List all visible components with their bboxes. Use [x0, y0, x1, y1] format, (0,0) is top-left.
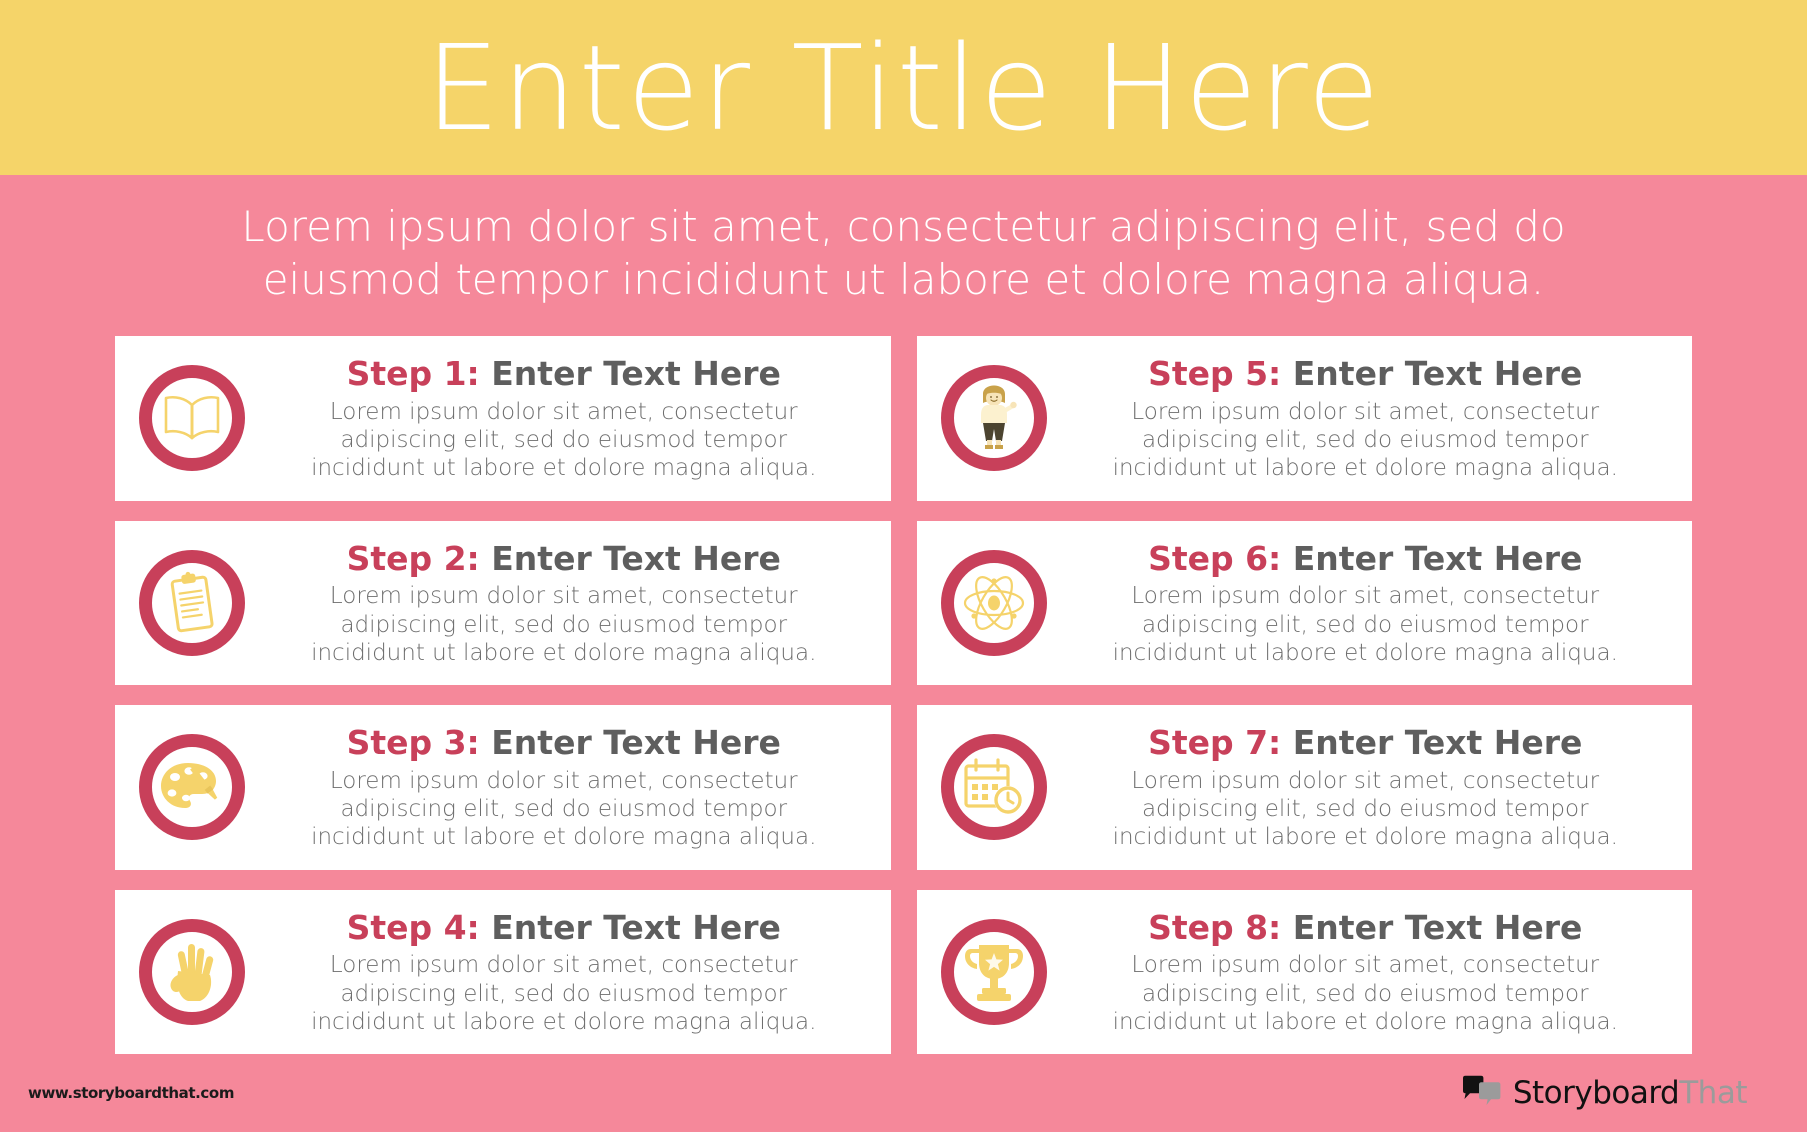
step-body-line-3: incididunt ut labore et dolore magna ali… — [259, 454, 869, 482]
step-label-2[interactable]: Step 2: — [347, 539, 480, 578]
step-body-line-3: incididunt ut labore et dolore magna ali… — [259, 639, 869, 667]
step-body-line-2: adipiscing elit, sed do eiusmod tempor — [259, 611, 869, 639]
step-body-line-3: incididunt ut labore et dolore magna ali… — [1061, 639, 1671, 667]
step-body-line-3: incididunt ut labore et dolore magna ali… — [1061, 454, 1671, 482]
step-body-4[interactable]: Lorem ipsum dolor sit amet, consectetur … — [259, 951, 869, 1035]
step-body-line-1: Lorem ipsum dolor sit amet, consectetur — [1061, 951, 1671, 979]
step-body-2[interactable]: Lorem ipsum dolor sit amet, consectetur … — [259, 582, 869, 666]
step-heading-5: Step 5: Enter Text Here — [1061, 354, 1671, 394]
step-body-line-3: incididunt ut labore et dolore magna ali… — [1061, 823, 1671, 851]
step-body-line-1: Lorem ipsum dolor sit amet, consectetur — [1061, 582, 1671, 610]
step-heading-3: Step 3: Enter Text Here — [259, 723, 869, 763]
step-label-5[interactable]: Step 5: — [1148, 354, 1281, 393]
step-body-line-1: Lorem ipsum dolor sit amet, consectetur — [259, 951, 869, 979]
step-title-1[interactable]: Enter Text Here — [491, 354, 781, 393]
page-title[interactable]: Enter Title Here — [425, 29, 1381, 147]
subtitle-line-1[interactable]: Lorem ipsum dolor sit amet, consectetur … — [150, 201, 1657, 254]
calendar-clock-icon — [962, 756, 1026, 818]
step-card-5[interactable]: Step 5: Enter Text Here Lorem ipsum dolo… — [917, 336, 1693, 501]
step-label-8[interactable]: Step 8: — [1148, 908, 1281, 947]
step-body-line-2: adipiscing elit, sed do eiusmod tempor — [259, 795, 869, 823]
step-card-3[interactable]: Step 3: Enter Text Here Lorem ipsum dolo… — [115, 705, 891, 870]
step-card-4[interactable]: Step 4: Enter Text Here Lorem ipsum dolo… — [115, 890, 891, 1055]
subtitle-line-2[interactable]: eiusmod tempor incididunt ut labore et d… — [150, 254, 1657, 307]
step-heading-8: Step 8: Enter Text Here — [1061, 908, 1671, 948]
atom-icon — [962, 571, 1026, 635]
step-icon-circle-5 — [941, 365, 1047, 471]
logo-text-storyboard: Storyboard — [1513, 1075, 1679, 1111]
step-body-3[interactable]: Lorem ipsum dolor sit amet, consectetur … — [259, 767, 869, 851]
footer-website-url[interactable]: www.storyboardthat.com — [28, 1084, 234, 1102]
subtitle-block: Lorem ipsum dolor sit amet, consectetur … — [0, 175, 1807, 316]
step-text-3: Step 3: Enter Text Here Lorem ipsum dolo… — [259, 723, 875, 851]
step-heading-7: Step 7: Enter Text Here — [1061, 723, 1671, 763]
step-text-2: Step 2: Enter Text Here Lorem ipsum dolo… — [259, 539, 875, 667]
paint-palette-icon — [158, 757, 226, 817]
step-title-6[interactable]: Enter Text Here — [1293, 539, 1583, 578]
step-body-line-1: Lorem ipsum dolor sit amet, consectetur — [259, 582, 869, 610]
trophy-icon — [963, 941, 1025, 1003]
step-icon-circle-2 — [139, 550, 245, 656]
step-body-5[interactable]: Lorem ipsum dolor sit amet, consectetur … — [1061, 398, 1671, 482]
open-book-icon — [161, 392, 223, 444]
step-icon-circle-7 — [941, 734, 1047, 840]
step-body-line-2: adipiscing elit, sed do eiusmod tempor — [1061, 426, 1671, 454]
step-icon-circle-6 — [941, 550, 1047, 656]
step-text-7: Step 7: Enter Text Here Lorem ipsum dolo… — [1061, 723, 1677, 851]
logo-text-that: That — [1679, 1075, 1747, 1111]
step-label-7[interactable]: Step 7: — [1148, 723, 1281, 762]
raised-hand-icon — [164, 939, 220, 1005]
clipboard-icon — [167, 571, 217, 635]
step-body-line-2: adipiscing elit, sed do eiusmod tempor — [259, 426, 869, 454]
step-text-1: Step 1: Enter Text Here Lorem ipsum dolo… — [259, 354, 875, 482]
step-text-6: Step 6: Enter Text Here Lorem ipsum dolo… — [1061, 539, 1677, 667]
speech-bubbles-icon — [1461, 1075, 1503, 1112]
step-text-8: Step 8: Enter Text Here Lorem ipsum dolo… — [1061, 908, 1677, 1036]
step-body-line-3: incididunt ut labore et dolore magna ali… — [1061, 1008, 1671, 1036]
step-body-1[interactable]: Lorem ipsum dolor sit amet, consectetur … — [259, 398, 869, 482]
step-title-8[interactable]: Enter Text Here — [1293, 908, 1583, 947]
logo-wordmark: StoryboardThat — [1513, 1075, 1747, 1111]
step-body-7[interactable]: Lorem ipsum dolor sit amet, consectetur … — [1061, 767, 1671, 851]
step-body-6[interactable]: Lorem ipsum dolor sit amet, consectetur … — [1061, 582, 1671, 666]
step-card-1[interactable]: Step 1: Enter Text Here Lorem ipsum dolo… — [115, 336, 891, 501]
storyboardthat-logo[interactable]: StoryboardThat — [1461, 1075, 1747, 1112]
step-body-line-2: adipiscing elit, sed do eiusmod tempor — [1061, 795, 1671, 823]
step-heading-2: Step 2: Enter Text Here — [259, 539, 869, 579]
step-title-3[interactable]: Enter Text Here — [491, 723, 781, 762]
step-body-line-1: Lorem ipsum dolor sit amet, consectetur — [259, 398, 869, 426]
step-title-4[interactable]: Enter Text Here — [491, 908, 781, 947]
step-label-6[interactable]: Step 6: — [1148, 539, 1281, 578]
step-text-4: Step 4: Enter Text Here Lorem ipsum dolo… — [259, 908, 875, 1036]
step-body-line-1: Lorem ipsum dolor sit amet, consectetur — [259, 767, 869, 795]
step-text-5: Step 5: Enter Text Here Lorem ipsum dolo… — [1061, 354, 1677, 482]
step-body-line-2: adipiscing elit, sed do eiusmod tempor — [1061, 611, 1671, 639]
steps-grid: Step 1: Enter Text Here Lorem ipsum dolo… — [0, 316, 1807, 1054]
header-band: Enter Title Here — [0, 0, 1807, 175]
step-body-line-1: Lorem ipsum dolor sit amet, consectetur — [1061, 767, 1671, 795]
step-icon-circle-4 — [139, 919, 245, 1025]
step-label-4[interactable]: Step 4: — [347, 908, 480, 947]
step-body-8[interactable]: Lorem ipsum dolor sit amet, consectetur … — [1061, 951, 1671, 1035]
step-heading-4: Step 4: Enter Text Here — [259, 908, 869, 948]
step-card-6[interactable]: Step 6: Enter Text Here Lorem ipsum dolo… — [917, 521, 1693, 686]
step-title-7[interactable]: Enter Text Here — [1293, 723, 1583, 762]
step-title-5[interactable]: Enter Text Here — [1293, 354, 1583, 393]
step-card-7[interactable]: Step 7: Enter Text Here Lorem ipsum dolo… — [917, 705, 1693, 870]
step-icon-circle-3 — [139, 734, 245, 840]
step-label-3[interactable]: Step 3: — [347, 723, 480, 762]
person-presenting-icon — [969, 385, 1019, 451]
step-title-2[interactable]: Enter Text Here — [491, 539, 781, 578]
footer-bar: www.storyboardthat.com StoryboardThat — [0, 1054, 1807, 1132]
step-icon-circle-8 — [941, 919, 1047, 1025]
step-label-1[interactable]: Step 1: — [347, 354, 480, 393]
step-card-8[interactable]: Step 8: Enter Text Here Lorem ipsum dolo… — [917, 890, 1693, 1055]
step-card-2[interactable]: Step 2: Enter Text Here Lorem ipsum dolo… — [115, 521, 891, 686]
step-body-line-2: adipiscing elit, sed do eiusmod tempor — [259, 980, 869, 1008]
step-heading-1: Step 1: Enter Text Here — [259, 354, 869, 394]
step-body-line-1: Lorem ipsum dolor sit amet, consectetur — [1061, 398, 1671, 426]
step-body-line-2: adipiscing elit, sed do eiusmod tempor — [1061, 980, 1671, 1008]
infographic-poster: Enter Title Here Lorem ipsum dolor sit a… — [0, 0, 1807, 1132]
step-icon-circle-1 — [139, 365, 245, 471]
step-heading-6: Step 6: Enter Text Here — [1061, 539, 1671, 579]
step-body-line-3: incididunt ut labore et dolore magna ali… — [259, 1008, 869, 1036]
step-body-line-3: incididunt ut labore et dolore magna ali… — [259, 823, 869, 851]
